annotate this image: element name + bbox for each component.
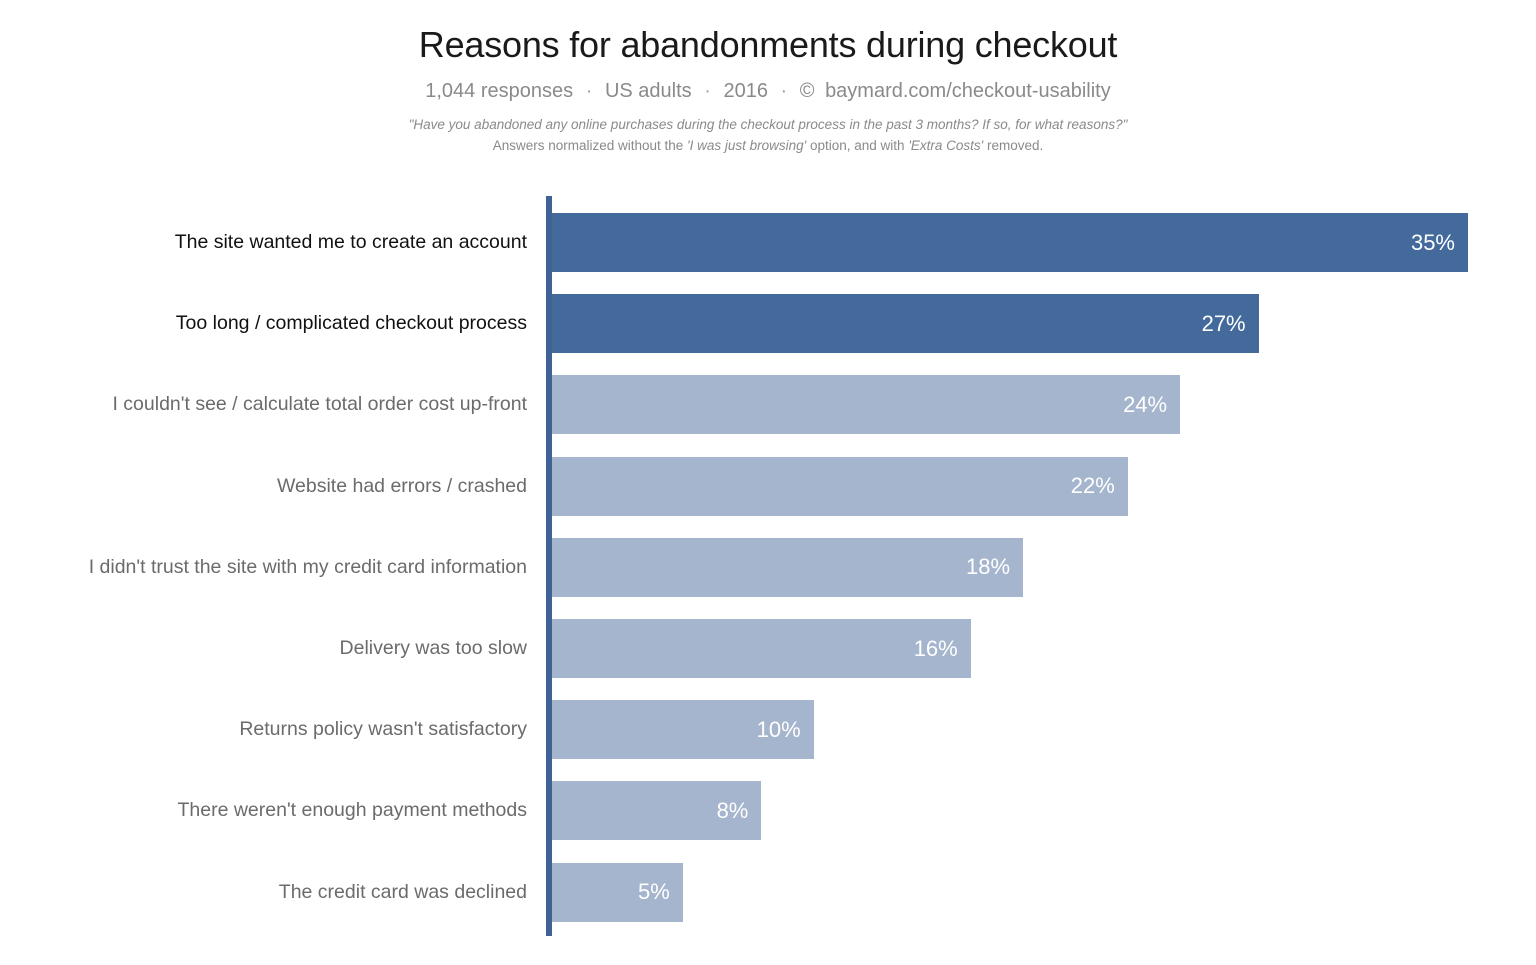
- bar-track: 16%: [552, 619, 971, 678]
- bar-value-label: 27%: [1202, 313, 1259, 335]
- bar-row: I didn't trust the site with my credit c…: [0, 538, 1536, 597]
- subtitle-audience: US adults: [605, 80, 692, 102]
- survey-question-note: "Have you abandoned any online purchases…: [0, 115, 1536, 136]
- bar-value-label: 18%: [966, 556, 1023, 578]
- bar-track: 27%: [552, 294, 1259, 353]
- bar-row: I couldn't see / calculate total order c…: [0, 375, 1536, 434]
- normalization-note-option-1: 'I was just browsing': [687, 138, 806, 153]
- bar-category-label: I couldn't see / calculate total order c…: [0, 375, 527, 434]
- bar-category-label: There weren't enough payment methods: [0, 781, 527, 840]
- bar-row: The site wanted me to create an account3…: [0, 213, 1536, 272]
- bar[interactable]: 5%: [552, 863, 683, 922]
- bar-row: Website had errors / crashed22%: [0, 457, 1536, 516]
- chart-notes: "Have you abandoned any online purchases…: [0, 103, 1536, 157]
- normalization-note-option-2: 'Extra Costs': [908, 138, 983, 153]
- chart-subtitle: 1,044 responses · US adults · 2016 · © b…: [0, 65, 1536, 103]
- bar-track: 8%: [552, 781, 761, 840]
- subtitle-responses: 1,044 responses: [425, 80, 573, 102]
- normalization-note-middle: option, and with: [806, 138, 908, 153]
- chart-page: Reasons for abandonments during checkout…: [0, 0, 1536, 965]
- bar-value-label: 16%: [914, 638, 971, 660]
- bar-category-label: Delivery was too slow: [0, 619, 527, 678]
- bar-category-label: The site wanted me to create an account: [0, 213, 527, 272]
- page-title: Reasons for abandonments during checkout: [0, 0, 1536, 65]
- subtitle-source-link[interactable]: baymard.com/checkout-usability: [825, 80, 1111, 102]
- bar-track: 35%: [552, 213, 1468, 272]
- bar-row: Delivery was too slow16%: [0, 619, 1536, 678]
- bar-category-label: Returns policy wasn't satisfactory: [0, 700, 527, 759]
- bar-row: The credit card was declined5%: [0, 863, 1536, 922]
- bar[interactable]: 8%: [552, 781, 761, 840]
- bar-track: 22%: [552, 457, 1128, 516]
- bar[interactable]: 18%: [552, 538, 1023, 597]
- bar-category-label: I didn't trust the site with my credit c…: [0, 538, 527, 597]
- bar-value-label: 35%: [1411, 232, 1468, 254]
- subtitle-separator-2: ·: [697, 80, 718, 102]
- bar-value-label: 22%: [1071, 475, 1128, 497]
- subtitle-separator-1: ·: [579, 80, 600, 102]
- bar-category-label: Website had errors / crashed: [0, 457, 527, 516]
- bar-value-label: 10%: [757, 719, 814, 741]
- subtitle-separator-3: ·: [774, 80, 795, 102]
- bar[interactable]: 35%: [552, 213, 1468, 272]
- bar[interactable]: 16%: [552, 619, 971, 678]
- bar-chart: The site wanted me to create an account3…: [0, 190, 1536, 950]
- bar[interactable]: 27%: [552, 294, 1259, 353]
- normalization-note-suffix: removed.: [983, 138, 1043, 153]
- bar-category-label: Too long / complicated checkout process: [0, 294, 527, 353]
- bar-track: 24%: [552, 375, 1180, 434]
- normalization-note-prefix: Answers normalized without the: [493, 138, 687, 153]
- bar[interactable]: 22%: [552, 457, 1128, 516]
- bar-row: Returns policy wasn't satisfactory10%: [0, 700, 1536, 759]
- bar-value-label: 5%: [638, 881, 683, 903]
- bar-track: 18%: [552, 538, 1023, 597]
- bar-row: Too long / complicated checkout process2…: [0, 294, 1536, 353]
- bar-track: 5%: [552, 863, 683, 922]
- bar[interactable]: 24%: [552, 375, 1180, 434]
- bar-value-label: 24%: [1123, 394, 1180, 416]
- chart-header: Reasons for abandonments during checkout…: [0, 0, 1536, 157]
- bar-track: 10%: [552, 700, 814, 759]
- bar[interactable]: 10%: [552, 700, 814, 759]
- subtitle-year: 2016: [723, 80, 768, 102]
- bar-value-label: 8%: [717, 800, 762, 822]
- normalization-note: Answers normalized without the 'I was ju…: [0, 136, 1536, 157]
- copyright-icon: ©: [800, 80, 820, 102]
- bar-category-label: The credit card was declined: [0, 863, 527, 922]
- bar-row: There weren't enough payment methods8%: [0, 781, 1536, 840]
